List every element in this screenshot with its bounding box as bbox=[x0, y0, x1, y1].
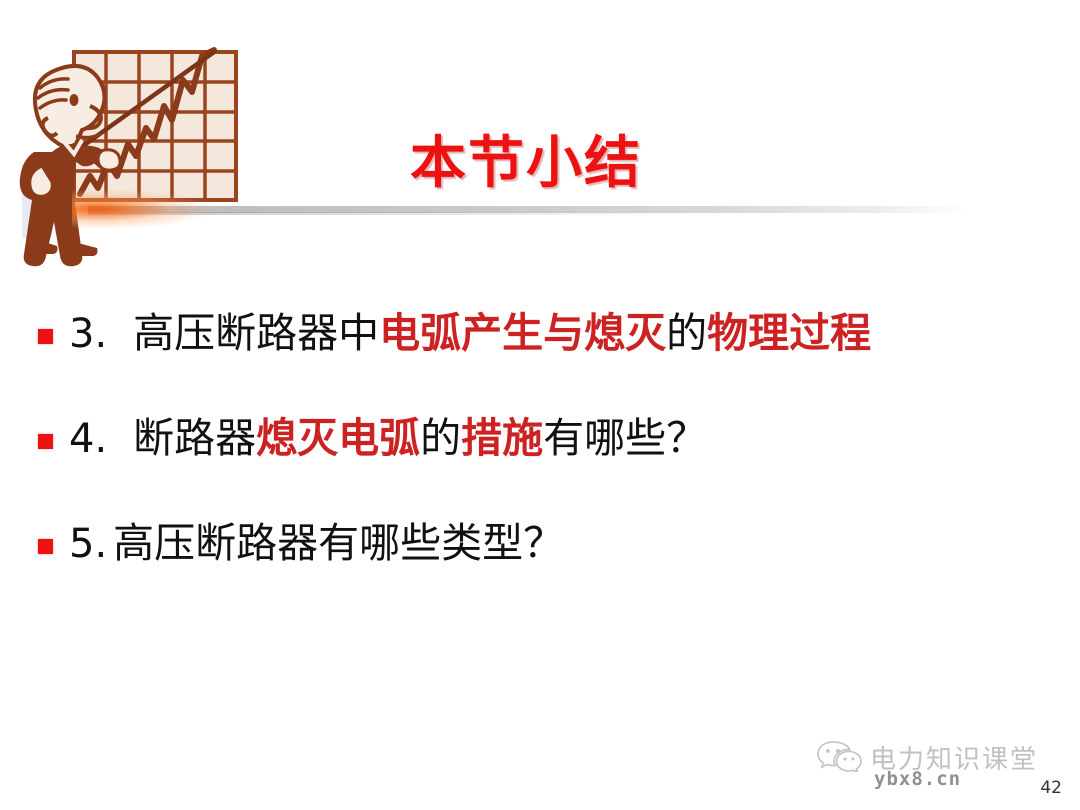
watermark-url: ybx8.cn bbox=[874, 768, 961, 790]
item-text-plain-3: 有哪些？ bbox=[543, 415, 707, 461]
item-text-plain-2: 的 bbox=[666, 310, 707, 356]
presenter-with-chart-clipart bbox=[18, 36, 258, 271]
summary-bullet-list: 3.高压断路器中电弧产生与熄灭的物理过程 4.断路器熄灭电弧的措施有哪些？ 5.… bbox=[38, 308, 1048, 623]
bullet-square-icon bbox=[38, 539, 53, 554]
page-title: 本节小结 bbox=[410, 118, 642, 199]
divider-bar bbox=[88, 206, 968, 213]
wechat-icon bbox=[816, 738, 862, 777]
item-number: 4. bbox=[69, 416, 107, 462]
watermark: 电力知识课堂 ybx8.cn bbox=[816, 738, 1066, 794]
item-number: 3. bbox=[69, 311, 107, 357]
list-item: 4.断路器熄灭电弧的措施有哪些？ bbox=[38, 413, 1048, 464]
item-text-plain-1: 高压断路器中 bbox=[133, 310, 379, 356]
list-item: 5.高压断路器有哪些类型？ bbox=[38, 518, 1048, 569]
item-text-plain-1: 高压断路器有哪些类型？ bbox=[113, 520, 564, 566]
slide-canvas: 本节小结 3.高压断路器中电弧产生与熄灭的物理过程 4.断路器熄灭电弧的措施有哪… bbox=[0, 0, 1080, 810]
item-text-plain-1: 断路器 bbox=[133, 415, 256, 461]
header-divider bbox=[88, 204, 968, 216]
item-text-highlight-2: 物理过程 bbox=[707, 309, 871, 357]
bullet-square-icon bbox=[38, 434, 53, 449]
item-text-highlight-1: 电弧产生与熄灭 bbox=[379, 309, 666, 357]
item-number: 5. bbox=[69, 521, 107, 567]
list-item-text: 3.高压断路器中电弧产生与熄灭的物理过程 bbox=[69, 308, 871, 359]
list-item-text: 5.高压断路器有哪些类型？ bbox=[69, 518, 564, 569]
list-item: 3.高压断路器中电弧产生与熄灭的物理过程 bbox=[38, 308, 1048, 359]
item-text-plain-2: 的 bbox=[420, 415, 461, 461]
bullet-square-icon bbox=[38, 329, 53, 344]
list-item-text: 4.断路器熄灭电弧的措施有哪些？ bbox=[69, 413, 707, 464]
item-text-highlight-2: 措施 bbox=[461, 414, 543, 462]
item-text-highlight-1: 熄灭电弧 bbox=[256, 414, 420, 462]
